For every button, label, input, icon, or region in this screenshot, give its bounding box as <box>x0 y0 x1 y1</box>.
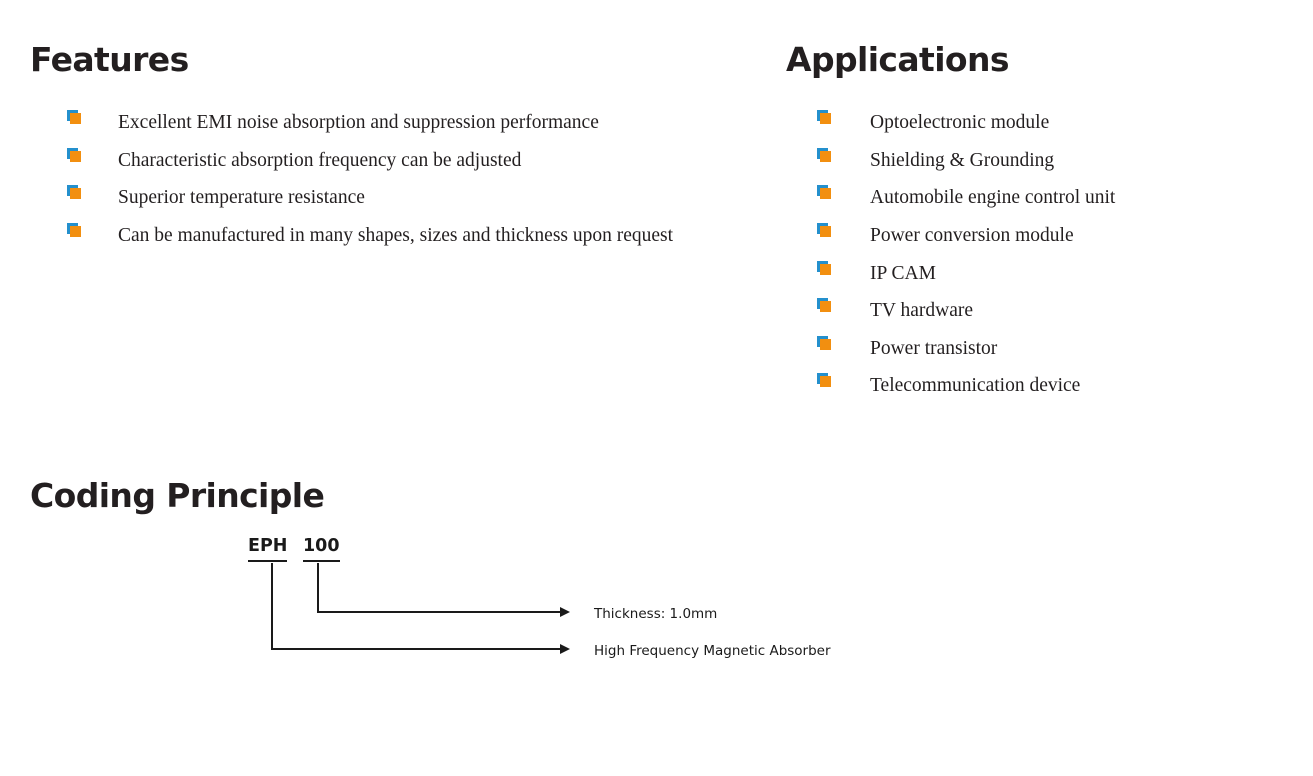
list-item: TV hardware <box>820 292 1290 330</box>
list-item-label: Power conversion module <box>820 217 1290 255</box>
list-item-label: Excellent EMI noise absorption and suppr… <box>70 104 750 142</box>
bullet-square-icon <box>70 226 81 237</box>
coding-principle-diagram: EPH 100 Thickness: 1.0mm High Frequency … <box>0 430 1313 690</box>
bullet-square-icon <box>70 151 81 162</box>
applications-list: Optoelectronic module Shielding & Ground… <box>820 104 1290 405</box>
features-list: Excellent EMI noise absorption and suppr… <box>70 104 750 255</box>
leader-label-product: High Frequency Magnetic Absorber <box>594 645 831 659</box>
features-heading: Features <box>30 43 189 76</box>
bullet-square-icon <box>820 151 831 162</box>
list-item: IP CAM <box>820 255 1290 293</box>
bullet-square-icon <box>820 188 831 199</box>
applications-heading: Applications <box>786 43 1009 76</box>
list-item: Excellent EMI noise absorption and suppr… <box>70 104 750 142</box>
leader-stem-thickness <box>317 563 319 613</box>
leader-arrow-product <box>560 644 570 654</box>
list-item: Can be manufactured in many shapes, size… <box>70 217 750 255</box>
datasheet-page: Features Excellent EMI noise absorption … <box>0 0 1313 776</box>
leader-run-product <box>271 648 562 650</box>
leader-stem-product <box>271 563 273 650</box>
list-item: Shielding & Grounding <box>820 142 1290 180</box>
list-item-label: Telecommunication device <box>820 367 1290 405</box>
bullet-square-icon <box>820 301 831 312</box>
bullet-square-icon <box>820 226 831 237</box>
list-item-label: Automobile engine control unit <box>820 179 1290 217</box>
list-item-label: Characteristic absorption frequency can … <box>70 142 750 180</box>
code-token-prefix: EPH <box>248 538 287 562</box>
code-token-thickness: 100 <box>303 538 340 562</box>
list-item-label: TV hardware <box>820 292 1290 330</box>
list-item-label: Power transistor <box>820 330 1290 368</box>
leader-arrow-thickness <box>560 607 570 617</box>
bullet-square-icon <box>70 188 81 199</box>
list-item-label: Superior temperature resistance <box>70 179 750 217</box>
list-item: Power transistor <box>820 330 1290 368</box>
bullet-square-icon <box>820 339 831 350</box>
list-item: Power conversion module <box>820 217 1290 255</box>
bullet-square-icon <box>820 113 831 124</box>
leader-label-thickness: Thickness: 1.0mm <box>594 608 717 622</box>
leader-run-thickness <box>317 611 562 613</box>
list-item: Superior temperature resistance <box>70 179 750 217</box>
list-item-label: Shielding & Grounding <box>820 142 1290 180</box>
bullet-square-icon <box>820 264 831 275</box>
list-item: Characteristic absorption frequency can … <box>70 142 750 180</box>
bullet-square-icon <box>70 113 81 124</box>
list-item: Telecommunication device <box>820 367 1290 405</box>
list-item-label: IP CAM <box>820 255 1290 293</box>
list-item-label: Optoelectronic module <box>820 104 1290 142</box>
list-item-label: Can be manufactured in many shapes, size… <box>70 217 750 255</box>
bullet-square-icon <box>820 376 831 387</box>
list-item: Optoelectronic module <box>820 104 1290 142</box>
list-item: Automobile engine control unit <box>820 179 1290 217</box>
